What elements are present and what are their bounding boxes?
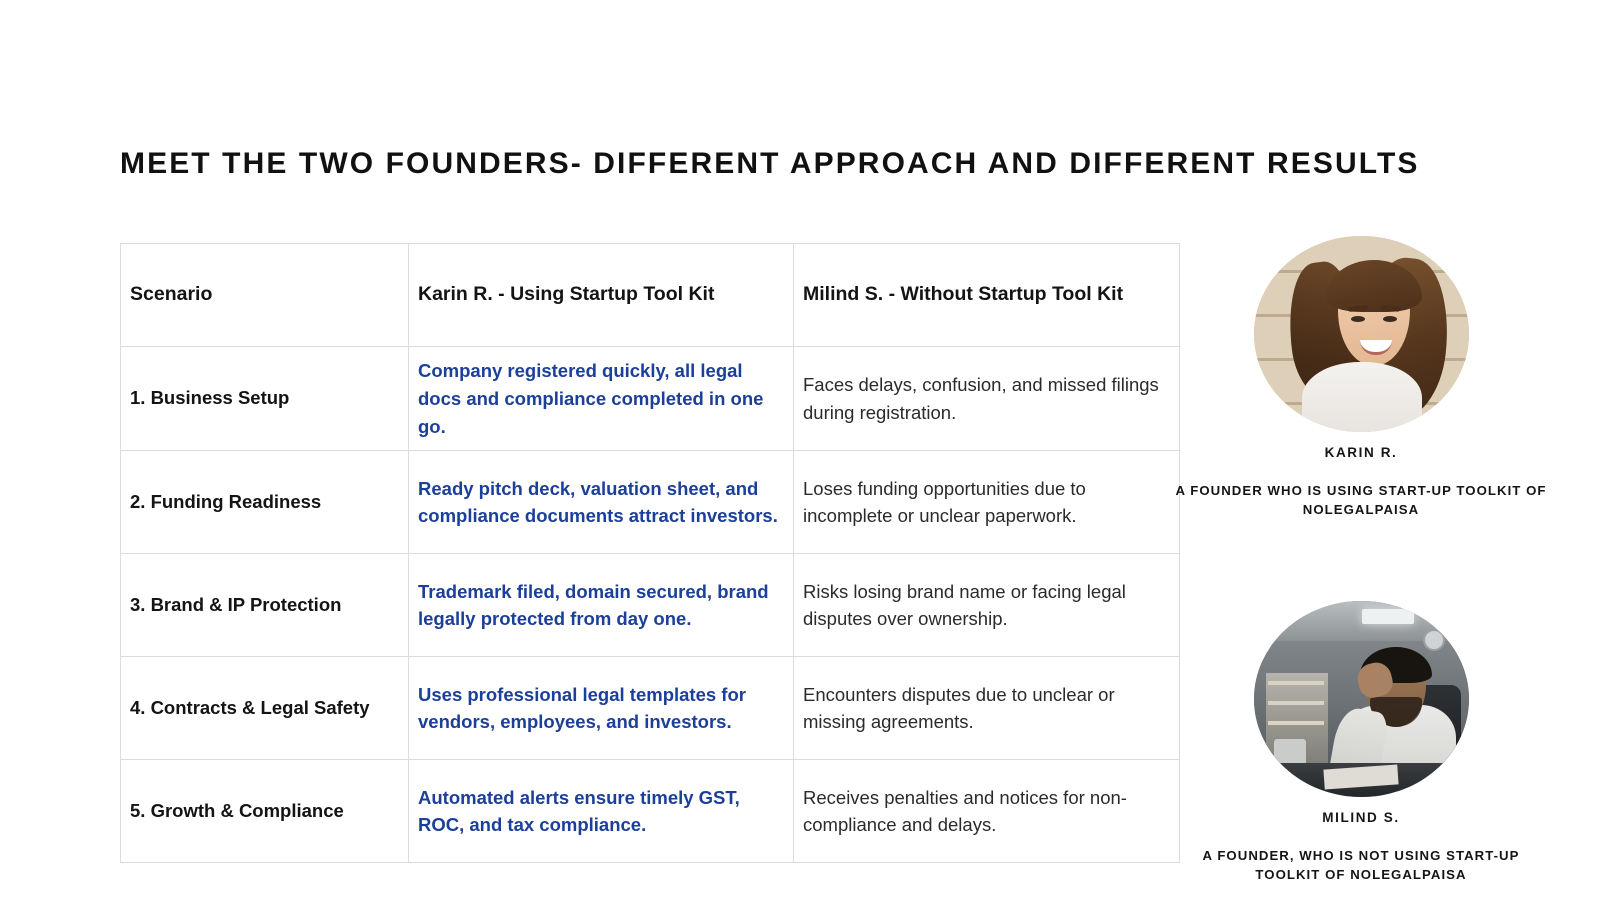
- milind-portrait-photo: [1254, 601, 1469, 797]
- milind-outcome: Risks losing brand name or facing legal …: [794, 554, 1180, 657]
- table-row: 3. Brand & IP Protection Trademark filed…: [121, 554, 1180, 657]
- profile-milind: MILIND S. A FOUNDER, WHO IS NOT USING ST…: [1166, 601, 1556, 884]
- karin-outcome: Automated alerts ensure timely GST, ROC,…: [409, 760, 794, 863]
- table-row: 5. Growth & Compliance Automated alerts …: [121, 760, 1180, 863]
- karin-outcome: Company registered quickly, all legal do…: [409, 347, 794, 451]
- scenario-label: 2. Funding Readiness: [121, 451, 409, 554]
- scenario-label: 4. Contracts & Legal Safety: [121, 657, 409, 760]
- column-header-milind: Milind S. - Without Startup Tool Kit: [794, 244, 1180, 347]
- profile-name: MILIND S.: [1166, 810, 1556, 825]
- eye-left: [1351, 316, 1365, 322]
- profile-name: KARIN R.: [1166, 445, 1556, 460]
- table-row: 4. Contracts & Legal Safety Uses profess…: [121, 657, 1180, 760]
- scenario-label: 5. Growth & Compliance: [121, 760, 409, 863]
- paper-sheet: [1268, 701, 1324, 705]
- slide-canvas: MEET THE TWO FOUNDERS- DIFFERENT APPROAC…: [0, 0, 1600, 900]
- column-header-scenario: Scenario: [121, 244, 409, 347]
- page-title: MEET THE TWO FOUNDERS- DIFFERENT APPROAC…: [120, 146, 1420, 182]
- table-row: 1. Business Setup Company registered qui…: [121, 347, 1180, 451]
- milind-outcome: Loses funding opportunities due to incom…: [794, 451, 1180, 554]
- paper-sheet: [1268, 681, 1324, 685]
- founder-comparison-table: Scenario Karin R. - Using Startup Tool K…: [120, 243, 1180, 863]
- wall-clock: [1423, 629, 1445, 651]
- scenario-label: 1. Business Setup: [121, 347, 409, 451]
- milind-outcome: Encounters disputes due to unclear or mi…: [794, 657, 1180, 760]
- karin-portrait-photo: [1254, 236, 1469, 432]
- karin-outcome: Trademark filed, domain secured, brand l…: [409, 554, 794, 657]
- karin-outcome: Ready pitch deck, valuation sheet, and c…: [409, 451, 794, 554]
- milind-outcome: Receives penalties and notices for non-c…: [794, 760, 1180, 863]
- profile-karin: KARIN R. A FOUNDER WHO IS USING START-UP…: [1166, 236, 1556, 519]
- profiles-column: KARIN R. A FOUNDER WHO IS USING START-UP…: [1166, 236, 1556, 885]
- profile-description: A FOUNDER WHO IS USING START-UP TOOLKIT …: [1166, 481, 1556, 519]
- karin-outcome: Uses professional legal templates for ve…: [409, 657, 794, 760]
- profile-description: A FOUNDER, WHO IS NOT USING START-UP TOO…: [1166, 846, 1556, 884]
- eye-right: [1383, 316, 1397, 322]
- milind-outcome: Faces delays, confusion, and missed fili…: [794, 347, 1180, 451]
- paper-sheet: [1268, 721, 1324, 725]
- column-header-karin: Karin R. - Using Startup Tool Kit: [409, 244, 794, 347]
- table-row: 2. Funding Readiness Ready pitch deck, v…: [121, 451, 1180, 554]
- ceiling-light: [1362, 609, 1414, 624]
- scenario-label: 3. Brand & IP Protection: [121, 554, 409, 657]
- table-header-row: Scenario Karin R. - Using Startup Tool K…: [121, 244, 1180, 347]
- white-shirt: [1302, 362, 1422, 432]
